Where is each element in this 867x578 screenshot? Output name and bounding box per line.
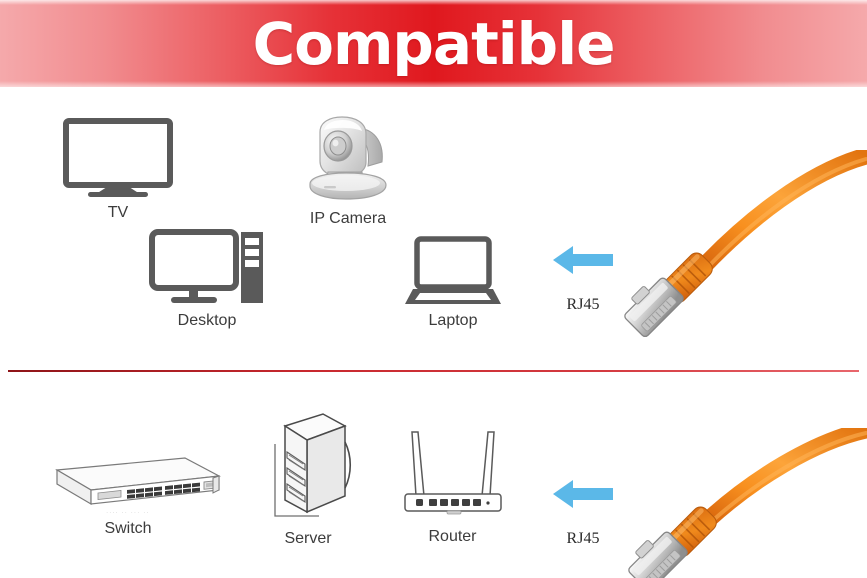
device-label-tv: TV [48, 204, 188, 222]
tv-icon [62, 118, 174, 200]
switch-micro-label: ···· ·· ··· ·· [28, 510, 228, 516]
device-switch: ···· ·· ··· ·· Switch [28, 452, 228, 538]
device-label-server: Server [258, 530, 358, 548]
device-laptop: Laptop [398, 236, 508, 330]
wifi-router-icon [391, 424, 515, 524]
device-label-router: Router [385, 528, 520, 546]
device-label-laptop: Laptop [398, 312, 508, 330]
section-divider [8, 370, 859, 372]
ethernet-cable-top [618, 150, 867, 340]
arrow-left-icon [551, 242, 615, 278]
device-server: Server [258, 408, 358, 548]
device-label-ip-camera: IP Camera [288, 210, 408, 228]
network-switch-icon [35, 452, 221, 514]
page-title: Compatible [253, 15, 615, 73]
device-router: Router [385, 424, 520, 546]
ethernet-cable-icon [618, 150, 867, 340]
ethernet-cable-icon [612, 428, 867, 578]
device-tv: TV [48, 118, 188, 222]
header-banner: Compatible [0, 0, 867, 87]
ip-camera-icon [296, 110, 400, 206]
device-desktop: Desktop [142, 228, 272, 330]
device-label-switch: Switch [28, 520, 228, 538]
ethernet-cable-bottom [612, 428, 867, 578]
arrow-left-icon [551, 476, 615, 512]
server-rack-icon [263, 408, 353, 526]
laptop-icon [404, 236, 502, 308]
desktop-icon [149, 228, 265, 308]
device-label-desktop: Desktop [142, 312, 272, 330]
device-ip-camera: IP Camera [288, 110, 408, 228]
